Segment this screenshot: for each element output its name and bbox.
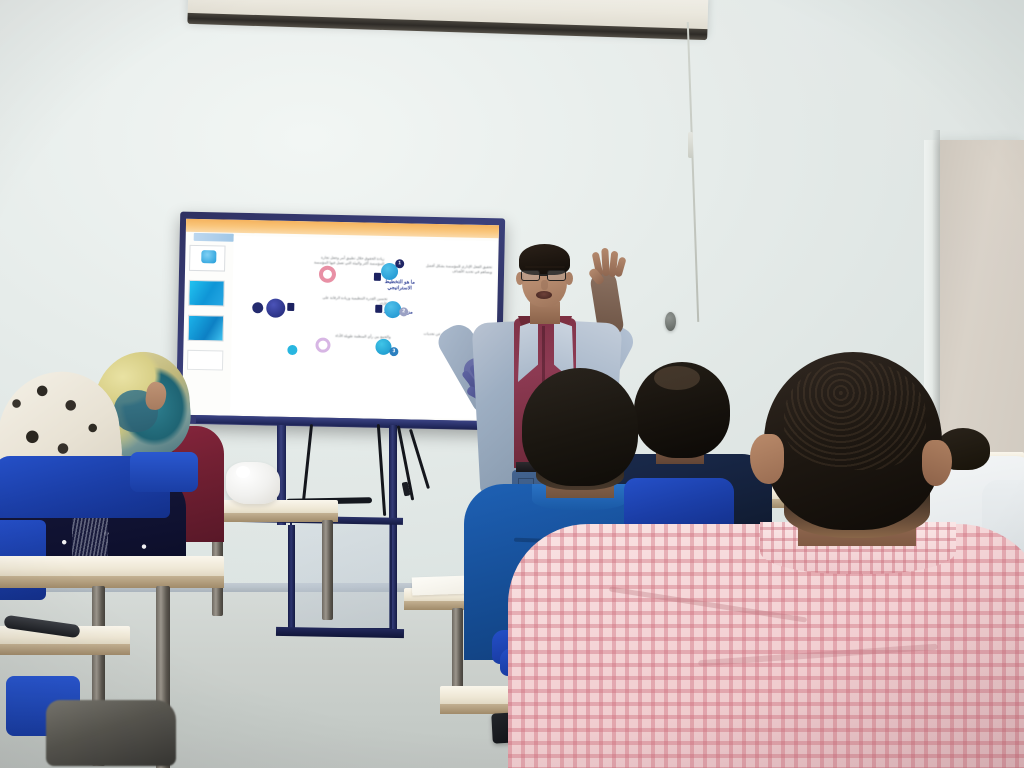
slide-square-accent [374, 273, 381, 281]
slide-circle-navy-small [252, 302, 263, 313]
desk-top [0, 556, 224, 578]
slide-thumbnail[interactable] [188, 315, 225, 342]
presenter-eyebrows [525, 266, 565, 268]
presenter-nose [541, 280, 548, 290]
pull-cord-weight [665, 312, 676, 331]
slide-heading: ما هو التخطيط الاستراتيجي [382, 279, 418, 292]
hair-texture [784, 360, 926, 470]
chair-seat[interactable] [130, 452, 198, 492]
slide-circle-accent-lilac [315, 337, 330, 352]
desk-leg [322, 520, 333, 620]
presenter-right-hand [592, 248, 626, 292]
slide-thumbnail[interactable] [188, 280, 225, 307]
desk-edge [0, 644, 130, 655]
slide-circle-badge: 3 [389, 347, 398, 356]
ear [750, 434, 784, 484]
app-tab [194, 233, 234, 242]
backpack-on-floor[interactable] [46, 700, 176, 766]
slide-circle-cyan [287, 345, 297, 355]
photograph-classroom-scene: تحقيق الفعل الإداري للمؤسسة بشكل أفضل وي… [0, 0, 1024, 768]
eyeglass-lens [547, 270, 566, 281]
pull-cord-clip [688, 132, 693, 158]
ear [922, 440, 952, 486]
slide-square-accent [287, 303, 294, 311]
slide-thumbnail[interactable] [189, 245, 226, 272]
audience-member-pink-gingham [548, 352, 1024, 768]
eyeglass-lens [521, 270, 540, 281]
slide-square-accent [375, 305, 382, 313]
slide-text-block: زيادة الحقوق خلال تطبيق أمر وجعل تجارة ا… [308, 255, 384, 266]
slide-circle-navy [266, 298, 285, 317]
desk-edge [0, 576, 224, 588]
slide-circle-badge: 1 [395, 259, 404, 268]
presenter-mouth [536, 291, 552, 299]
slide-circle-accent-pink [319, 266, 336, 283]
